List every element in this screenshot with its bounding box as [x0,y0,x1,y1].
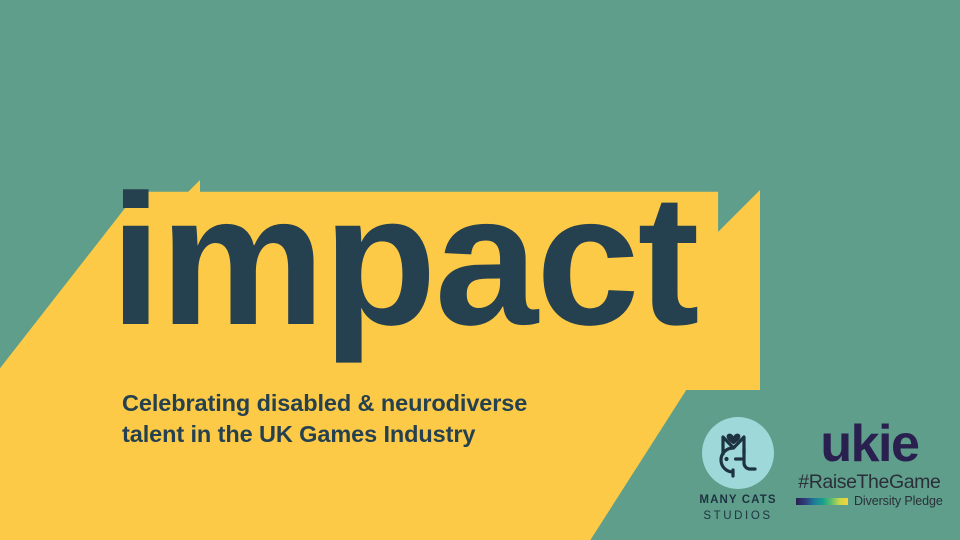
subtitle-line-1: Celebrating disabled & neurodiverse [122,388,642,419]
many-cats-subname: STUDIOS [703,509,772,525]
impact-wordmark: impact [110,168,698,354]
poster-canvas: impact Celebrating disabled & neurodiver… [0,0,960,540]
cat-eye-dot [724,457,728,461]
cat-eye-dash [734,457,743,460]
many-cats-studios-logo: MANY CATS STUDIOS [690,415,786,524]
subtitle-line-2: talent in the UK Games Industry [122,419,642,450]
many-cats-name: MANY CATS [699,493,776,509]
poster-subtitle: Celebrating disabled & neurodiverse tale… [122,388,642,451]
many-cats-badge [702,417,774,489]
diversity-pledge-row: Diversity Pledge [796,495,943,508]
ukie-logo: ukie #RaiseTheGame Diversity Pledge [796,415,943,508]
raise-the-game-hashtag: #RaiseTheGame [798,473,940,493]
ukie-wordmark: ukie [820,421,918,469]
cat-crown-heart-icon [709,424,767,482]
logo-strip: MANY CATS STUDIOS ukie #RaiseTheGame Div… [690,415,950,535]
diversity-pledge-label: Diversity Pledge [854,495,943,508]
diversity-gradient-bar [796,498,848,505]
